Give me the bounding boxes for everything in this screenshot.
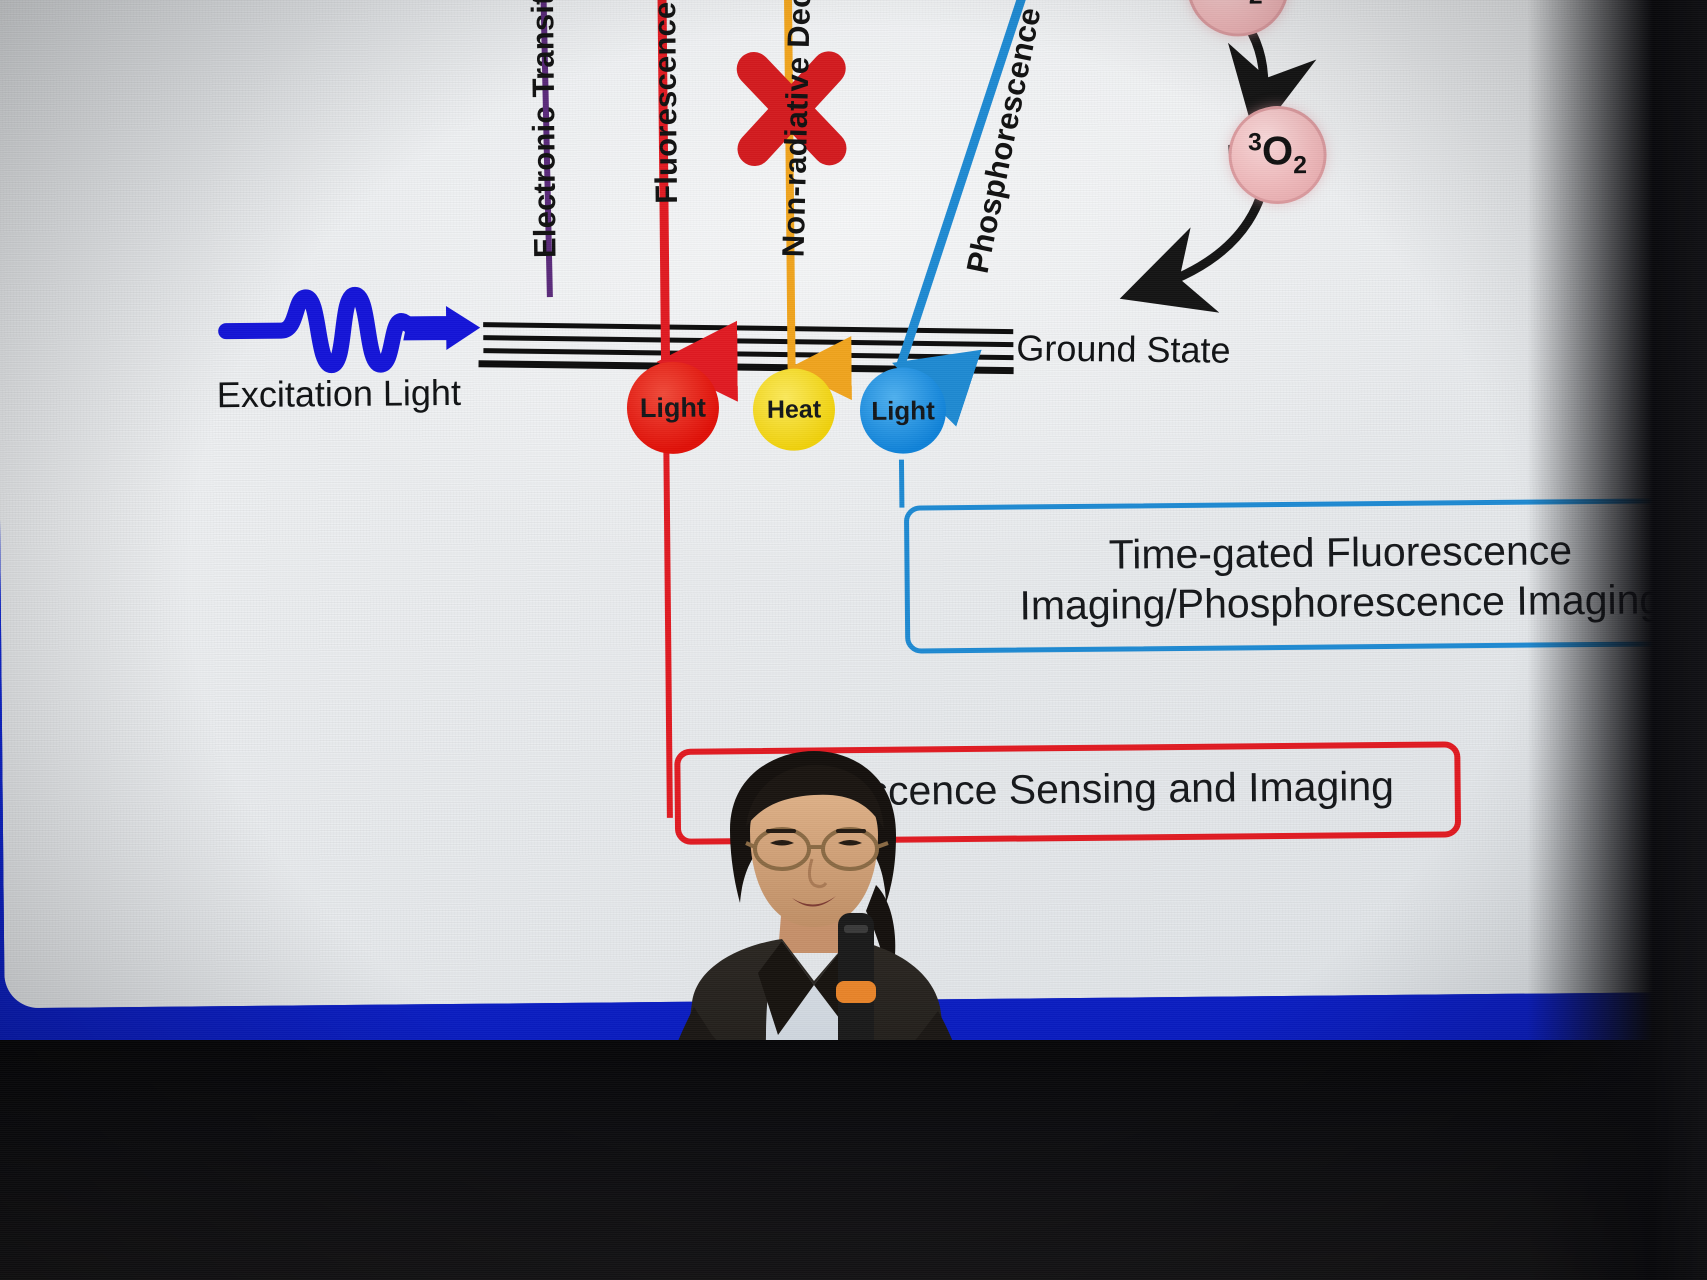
bubble-label: Heat xyxy=(767,395,821,425)
bubble-fluorescence-light: Light xyxy=(627,361,720,454)
excitation-light-icon xyxy=(226,294,414,366)
bubble-label: Light xyxy=(640,392,706,424)
ground-state-levels xyxy=(478,320,1013,376)
bubble-label: Light xyxy=(871,395,935,427)
room-right-shadow xyxy=(1527,0,1707,1280)
label-ground-state: Ground State xyxy=(1016,327,1231,371)
oxygen-formula: 3O2 xyxy=(1248,129,1307,181)
label-electronic-transition: Electronic Transition xyxy=(525,0,564,258)
excitation-arrowhead xyxy=(403,306,480,351)
label-excitation-light: Excitation Light xyxy=(217,372,462,416)
oxygen-formula: 1O2* xyxy=(1204,0,1273,11)
oxygen-triplet-ground: 3O2 xyxy=(1228,106,1327,205)
bubble-non-radiative-heat: Heat xyxy=(753,368,836,451)
bubble-phosphorescence-light: Light xyxy=(860,367,947,454)
stage-floor xyxy=(0,1040,1707,1280)
screenshot-root: Electronic Transition Fluorescence Non-r… xyxy=(0,0,1707,1280)
label-fluorescence: Fluorescence xyxy=(647,1,685,204)
